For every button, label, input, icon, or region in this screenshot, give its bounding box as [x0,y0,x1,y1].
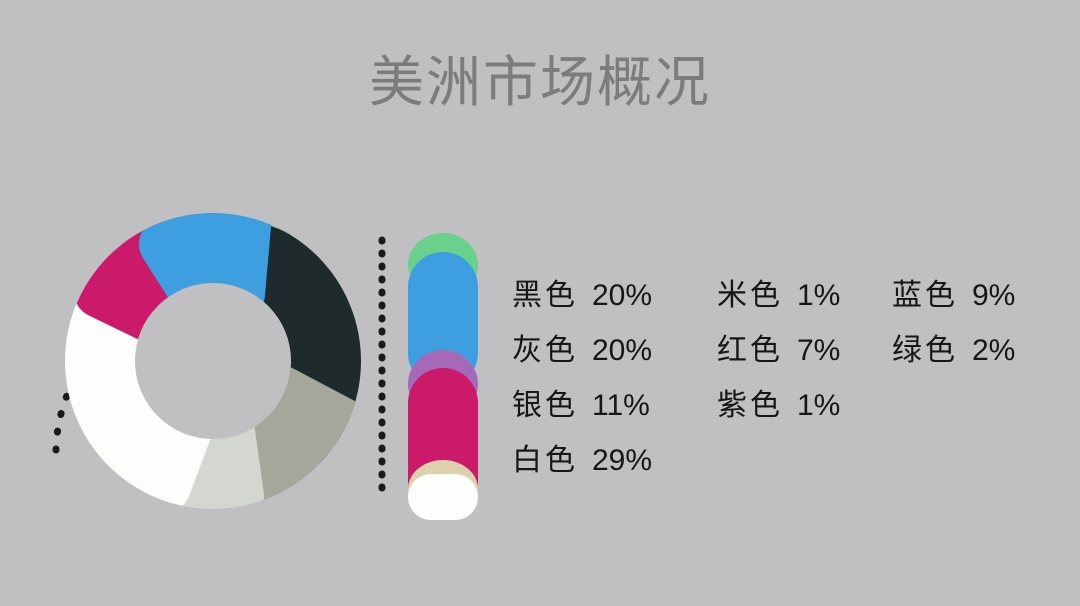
legend-item-purple[interactable]: 紫色 1% [717,389,892,423]
legend-row: 黑色 20% 米色 1% 蓝色 9% [512,268,1052,323]
legend-value: 7% [797,334,840,368]
legend-label: 灰色 [512,334,578,368]
legend-label: 蓝色 [892,279,958,313]
legend-label: 绿色 [892,334,958,368]
stacked-bar-chart [370,222,490,532]
legend-item-beige[interactable]: 米色 1% [717,279,892,313]
legend-label: 红色 [717,334,783,368]
donut-hole [135,283,291,439]
legend: 黑色 20% 米色 1% 蓝色 9% 灰色 20% 红色 7% 绿色 [512,268,1052,488]
legend-item-black[interactable]: 黑色 20% [512,279,717,313]
legend-value: 9% [972,279,1015,313]
legend-item-white[interactable]: 白色 29% [512,444,717,478]
legend-item-red[interactable]: 红色 7% [717,334,892,368]
legend-value: 20% [592,334,652,368]
legend-value: 1% [797,389,840,423]
legend-label: 白色 [512,444,578,478]
stacked-bar-svg [370,222,490,532]
legend-value: 1% [797,279,840,313]
page-title: 美洲市场概况 [0,48,1080,116]
slide-canvas: 美洲市场概况 [0,0,1080,606]
legend-item-green[interactable]: 绿色 2% [892,334,1052,368]
legend-item-gray[interactable]: 灰色 20% [512,334,717,368]
legend-value: 20% [592,279,652,313]
legend-row: 银色 11% 紫色 1% [512,378,1052,433]
legend-label: 黑色 [512,279,578,313]
legend-label: 银色 [512,389,578,423]
legend-item-silver[interactable]: 银色 11% [512,389,717,423]
legend-value: 29% [592,444,652,478]
legend-value: 11% [592,389,650,423]
legend-label: 米色 [717,279,783,313]
legend-row: 白色 29% [512,433,1052,488]
legend-row: 灰色 20% 红色 7% 绿色 2% [512,323,1052,378]
legend-label: 紫色 [717,389,783,423]
bar-segment-white [408,474,478,520]
donut-chart [48,196,378,526]
legend-item-blue[interactable]: 蓝色 9% [892,279,1052,313]
donut-chart-svg [48,196,378,526]
legend-value: 2% [972,334,1015,368]
